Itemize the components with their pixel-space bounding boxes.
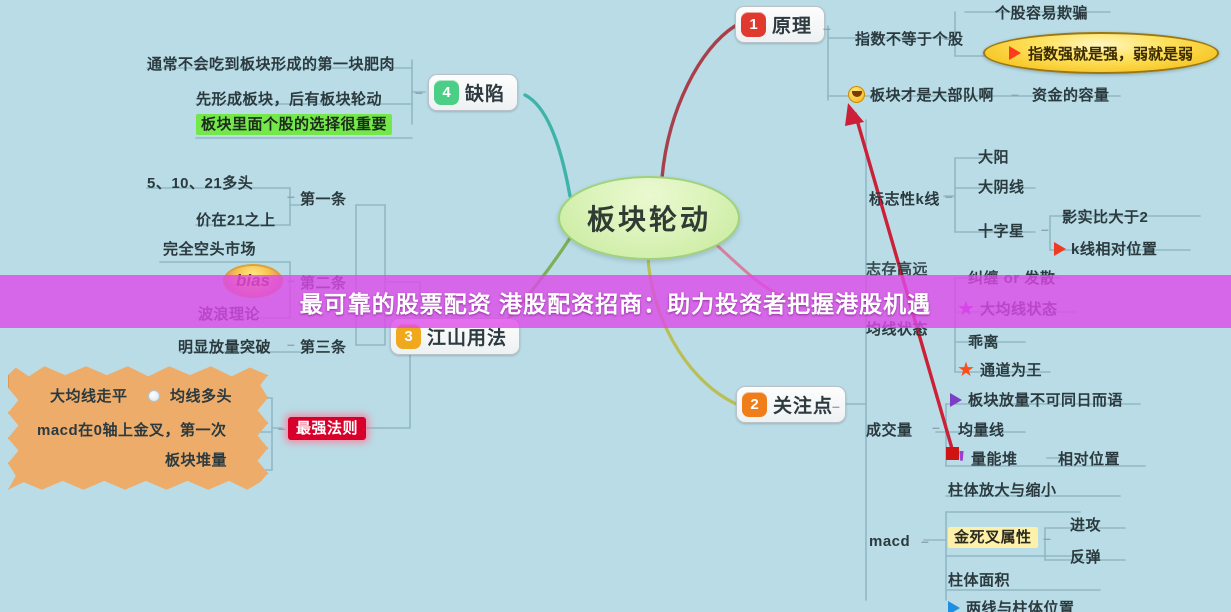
dash-kline: –: [945, 188, 953, 204]
defect-item-1: 通常不会吃到板块形成的第一块肥肉: [147, 53, 395, 74]
purple-play-triangle-icon: [950, 393, 962, 407]
smiley-face-icon: [848, 86, 865, 103]
strongest-item-4: 板块堆量: [165, 449, 227, 470]
rule1-label: 第一条: [300, 188, 347, 209]
macd-item-3: 两线与柱体位置: [948, 597, 1075, 612]
cross-child-2: k线相对位置: [1054, 238, 1157, 259]
macd-item-2: 柱体面积: [948, 569, 1010, 590]
ma-item-3: 乖离: [968, 331, 999, 352]
strongest-item-3: macd在0轴上金叉，第一次: [37, 419, 227, 440]
central-topic-label: 板块轮动: [587, 198, 711, 238]
volume-label: 成交量: [866, 419, 913, 440]
branch-principle[interactable]: 1 原理: [735, 6, 825, 43]
dash-strongest: –: [278, 420, 286, 436]
dash-goldcross: –: [1043, 530, 1051, 546]
capacity: 资金的容量: [1032, 84, 1110, 105]
dash-rule1: –: [287, 188, 295, 204]
macd-item-1: 金死叉属性: [948, 526, 1038, 547]
branch-number-1: 1: [741, 12, 766, 37]
strongest-item-1: 大均线走平: [50, 385, 128, 406]
rule2-item-1: 完全空头市场: [163, 238, 256, 259]
volume-item-4: 柱体放大与缩小: [948, 479, 1057, 500]
goldcross-child-2: 反弹: [1070, 546, 1101, 567]
kline-item-1: 大阳: [978, 146, 1009, 167]
dash-defect: –: [415, 84, 423, 100]
dash-focus: –: [832, 398, 840, 414]
rule3-label: 第三条: [300, 336, 347, 357]
index-child-1: 个股容易欺骗: [995, 2, 1088, 23]
dash-principle: –: [823, 20, 831, 36]
kline-item-3: 十字星: [978, 220, 1025, 241]
rule1-item-1: 5、10、21多头: [147, 172, 253, 193]
orange-star-icon: [958, 362, 974, 378]
defect-item-3: 板块里面个股的选择很重要: [196, 113, 392, 134]
red-play-triangle-icon: [1009, 46, 1021, 60]
strongest-item-2: 均线多头: [170, 385, 232, 406]
branch-focus[interactable]: 2 关注点: [736, 386, 846, 423]
volume-item-3: 量能堆: [958, 448, 1018, 469]
branch-principle-label: 原理: [772, 11, 812, 38]
sector-main-force: 板块才是大部队啊: [848, 84, 994, 105]
strongest-label: 最强法则: [288, 417, 366, 438]
volume-relative: 相对位置: [1058, 448, 1120, 469]
dash-macd: –: [921, 533, 929, 549]
kline-item-2: 大阴线: [978, 176, 1025, 197]
volume-item-2: 均量线: [958, 419, 1005, 440]
volume-item-1: 板块放量不可同日而语: [950, 389, 1123, 410]
dash-cross: –: [1041, 221, 1049, 237]
connector-dot: [148, 390, 160, 402]
defect-item-2: 先形成板块，后有板块轮动: [196, 88, 382, 109]
central-topic[interactable]: 板块轮动: [558, 176, 740, 260]
branch-number-4: 4: [434, 80, 459, 105]
dash-volume: –: [932, 419, 940, 435]
branch-defect-label: 缺陷: [465, 79, 505, 106]
branch-defect[interactable]: 4 缺陷: [428, 74, 518, 111]
branch-focus-label: 关注点: [773, 391, 833, 418]
watermark-text: 最可靠的股票配资 港股配资招商：助力投资者把握港股机遇: [300, 285, 931, 319]
cross-child-1: 影实比大于2: [1062, 206, 1148, 227]
purple-exclamation-icon: [958, 451, 965, 467]
red-play-triangle-icon: [1054, 242, 1066, 256]
mindmap-canvas: 通常不会吃到板块形成的第一块肥肉 先形成板块，后有板块轮动 板块里面个股的选择很…: [0, 0, 1231, 612]
index-strength-callout[interactable]: 指数强就是强，弱就是弱: [983, 32, 1219, 74]
dash-index: –: [944, 30, 952, 46]
dash-rule3: –: [287, 336, 295, 352]
kline-label: 标志性k线: [869, 188, 940, 209]
branch-number-2: 2: [742, 392, 767, 417]
dash-capacity: –: [1011, 86, 1019, 102]
goldcross-child-1: 进攻: [1070, 514, 1101, 535]
watermark-banner: 最可靠的股票配资 港股配资招商：助力投资者把握港股机遇: [0, 275, 1231, 328]
macd-label: macd: [869, 533, 910, 550]
rule1-item-2: 价在21之上: [196, 209, 276, 230]
blue-play-triangle-icon: [948, 601, 960, 612]
ma-item-4: 通道为王: [958, 359, 1042, 380]
rule3-item-1: 明显放量突破: [178, 336, 271, 357]
